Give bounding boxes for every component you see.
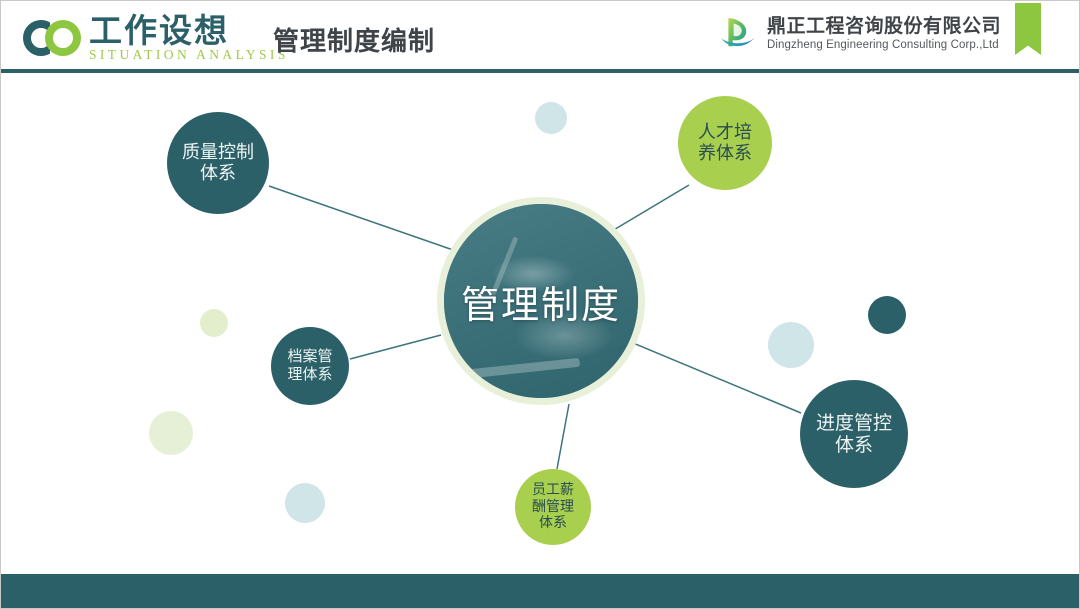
hub-node-management-system[interactable]: 管理制度 (437, 197, 645, 405)
node-label-quality: 质量控制 体系 (182, 142, 254, 184)
connector-archive (350, 335, 441, 359)
brand-subtitle: SITUATION ANALYSIS (89, 47, 289, 63)
node-label-archive: 档案管 理体系 (287, 348, 332, 383)
brand-block: 工作设想 SITUATION ANALYSIS (23, 13, 289, 63)
node-talent[interactable]: 人才培 养体系 (678, 96, 772, 190)
company-name-cn: 鼎正工程咨询股份有限公司 (767, 17, 1001, 37)
ring-green-icon (45, 20, 81, 56)
connector-quality (269, 186, 456, 251)
diagram-canvas: 质量控制 体系人才培 养体系档案管 理体系进度管控 体系员工薪 酬管理 体系 管… (1, 73, 1080, 576)
slide-header: 工作设想 SITUATION ANALYSIS 管理制度编制 (1, 1, 1079, 71)
brand-text: 工作设想 SITUATION ANALYSIS (89, 13, 289, 63)
double-ring-logo-icon (23, 16, 85, 56)
company-text: 鼎正工程咨询股份有限公司 Dingzheng Engineering Consu… (767, 17, 1001, 52)
deco-left-green (200, 309, 228, 337)
deco-lower-blue (285, 483, 325, 523)
footer-bar (1, 574, 1079, 608)
slide: 工作设想 SITUATION ANALYSIS 管理制度编制 (0, 0, 1080, 609)
node-archive[interactable]: 档案管 理体系 (271, 327, 349, 405)
brand-title: 工作设想 (89, 13, 289, 49)
company-sail-logo-icon (717, 13, 759, 55)
node-label-salary: 员工薪 酬管理 体系 (532, 482, 574, 532)
node-salary[interactable]: 员工薪 酬管理 体系 (515, 469, 591, 545)
green-ribbon-icon (1015, 3, 1041, 55)
deco-right-teal (868, 296, 906, 334)
company-block: 鼎正工程咨询股份有限公司 Dingzheng Engineering Consu… (717, 13, 1001, 55)
hub-label: 管理制度 (461, 274, 621, 329)
connector-salary (557, 404, 569, 469)
deco-left-big (149, 411, 193, 455)
node-label-progress: 进度管控 体系 (816, 412, 892, 457)
deco-right-blue (768, 322, 814, 368)
node-progress[interactable]: 进度管控 体系 (800, 380, 908, 488)
node-quality[interactable]: 质量控制 体系 (167, 112, 269, 214)
page-title: 管理制度编制 (273, 21, 435, 58)
node-label-talent: 人才培 养体系 (698, 122, 752, 164)
deco-top-blue (535, 102, 567, 134)
hub-photo-desk-edge (459, 358, 580, 380)
company-name-en: Dingzheng Engineering Consulting Corp.,L… (767, 39, 1001, 51)
